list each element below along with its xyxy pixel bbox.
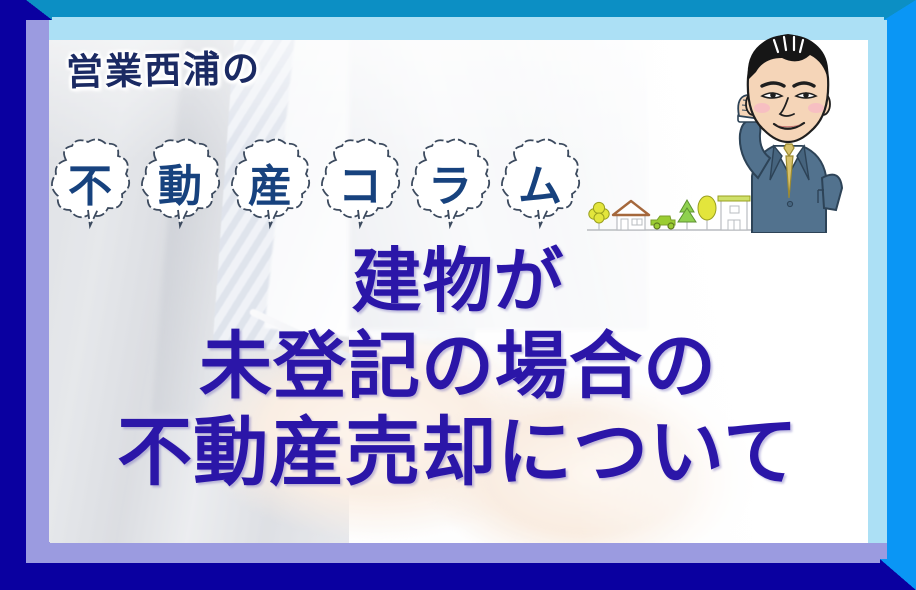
frame-band-right-sky: [868, 17, 887, 561]
banner-image: 営業西浦の 不 動 産: [0, 0, 916, 590]
avatar-cheek: [808, 103, 824, 113]
frame-band-left-purple: [26, 18, 49, 590]
avatar-arm-hip: [822, 175, 842, 210]
logo-kicker-text: 営業西浦の: [65, 38, 261, 96]
headline-line-1: 建物が: [49, 246, 867, 316]
speech-bubble: コ: [316, 138, 404, 230]
speech-bubble: 不: [46, 138, 134, 230]
tree-green-icon: [678, 200, 696, 230]
bubble-char: 産: [226, 138, 314, 230]
logo-bubble-row: 不 動 産 コ: [46, 138, 584, 230]
page-title: 建物が 未登記の場合の 不動産売却について: [49, 246, 867, 490]
headline-line-2: 未登記の場合の: [49, 330, 867, 403]
bubble-char: コ: [316, 138, 404, 230]
house-icon: [613, 201, 649, 230]
avatar-cheek: [754, 103, 770, 113]
tree-yellow-icon: [589, 202, 609, 230]
bubble-char: 不: [46, 138, 134, 230]
bubble-char: ラ: [406, 138, 494, 230]
bubble-char: ム: [496, 138, 584, 230]
speech-bubble: 産: [226, 138, 314, 230]
speech-bubble: 動: [136, 138, 224, 230]
car-green-icon: [651, 216, 675, 229]
speech-bubble: ラ: [406, 138, 494, 230]
frame-corner-bottom-left: [26, 542, 50, 563]
frame-band-bottom-purple: [26, 543, 916, 563]
bubble-char: 動: [136, 138, 224, 230]
frame-corner-top-left: [26, 0, 52, 20]
frame-band-bottom-dark: [0, 563, 916, 590]
speech-bubble: ム: [496, 138, 584, 230]
headline-line-3: 不動産売却について: [49, 415, 867, 490]
frame-corner-bottom-right: [880, 559, 916, 590]
salesperson-caricature: [712, 28, 862, 233]
frame-band-right-blue: [887, 0, 916, 590]
frame-band-top-teal: [26, 0, 916, 17]
frame-band-left-dark: [0, 0, 26, 590]
frame-corner-top-right: [884, 0, 916, 20]
column-logo: 営業西浦の: [60, 40, 261, 94]
